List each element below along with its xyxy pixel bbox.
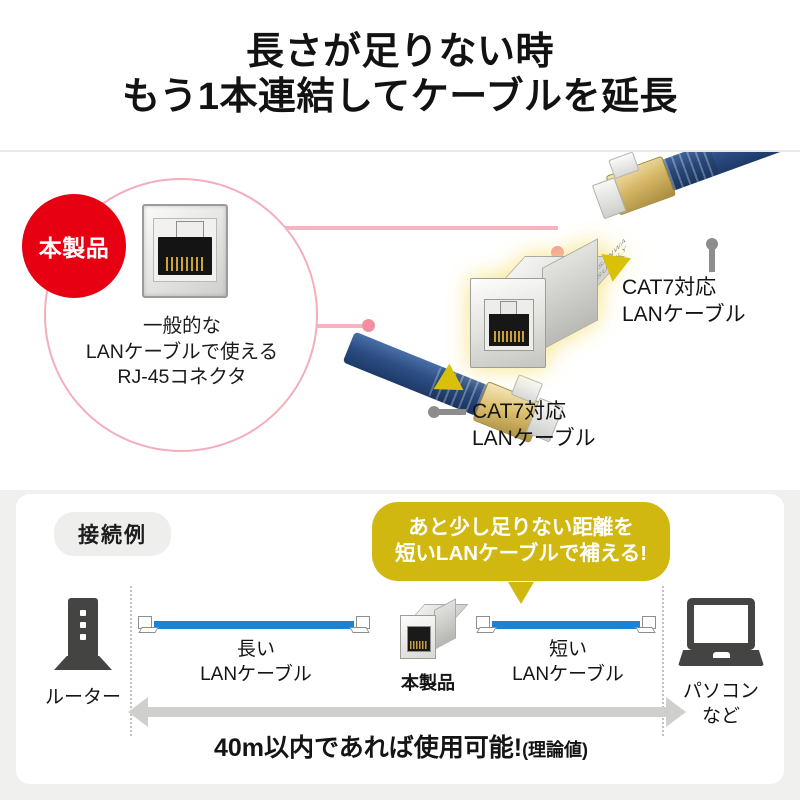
- router-slot-3: [80, 634, 86, 640]
- dimension-main-text: 40m以内であれば使用可能!: [214, 734, 522, 762]
- product-badge: 本製品: [22, 194, 126, 298]
- bubble-line2: 短いLANケーブルで補える!: [382, 541, 660, 567]
- short-cable-label: 短い LANケーブル: [478, 638, 658, 687]
- router-body: [68, 598, 98, 660]
- callout-stem-bottom: [438, 409, 466, 415]
- lan-coupler-photo: SANWA SUPPLY: [470, 256, 598, 368]
- long-cable-label: 長い LANケーブル: [156, 638, 356, 687]
- product-badge-label: 本製品: [39, 229, 110, 263]
- speech-bubble: あと少し足りない距離を 短いLANケーブルで補える!: [372, 502, 670, 581]
- long-cable-line1: 長い: [156, 638, 356, 663]
- speech-bubble-tail: [508, 582, 534, 604]
- short-lan-cable-graphic: [476, 616, 656, 634]
- laptop-screen: [687, 598, 755, 650]
- callout-text-top: CAT7対応 LANケーブル: [622, 274, 746, 329]
- callout-stem-top: [709, 246, 715, 272]
- long-cable-plug-right-icon: [350, 616, 370, 634]
- page-title-line1: 長さが足りない時: [246, 30, 554, 75]
- pink-leader-line-upper: [264, 226, 558, 230]
- rj45-caption-line2: LANケーブルで使える: [46, 340, 318, 366]
- coupler-port-hole: [489, 314, 529, 346]
- router-base: [54, 656, 112, 670]
- rj45-caption: 一般的な LANケーブルで使える RJ-45コネクタ: [46, 314, 318, 391]
- bubble-line1: あと少し足りない距離を: [382, 515, 660, 541]
- coupler-icon: [400, 604, 456, 660]
- dimension-arrow-right-icon: [666, 697, 686, 727]
- coupler-front-face: [470, 278, 546, 368]
- short-cable-plug-right-icon: [636, 616, 656, 634]
- short-cable-wire: [492, 621, 640, 629]
- dimension-arrow-line: [146, 707, 666, 717]
- rj45-jack-cavity: [158, 237, 212, 275]
- rj45-jack-pins: [166, 257, 204, 271]
- callout-top-line1: CAT7対応: [622, 274, 746, 301]
- callout-top-line2: LANケーブル: [622, 301, 746, 328]
- callout-bottom-line2: LANケーブル: [472, 425, 596, 452]
- long-cable-wire: [154, 621, 354, 629]
- infographic-page: 長さが足りない時 もう1本連結してケーブルを延長 本製品 一般的な LANケーブ…: [0, 0, 800, 800]
- router-icon: [54, 598, 112, 678]
- mini-coupler-pins: [410, 641, 428, 649]
- connection-example-card: 接続例 あと少し足りない距離を 短いLANケーブルで補える! ルーター: [16, 494, 784, 784]
- product-label-bottom: 本製品: [386, 672, 470, 695]
- rj45-jack-photo: [142, 204, 228, 298]
- router-slot-2: [80, 622, 86, 628]
- long-cable-plug-left-icon: [138, 616, 158, 634]
- laptop-icon: [678, 598, 764, 674]
- coupler-side-face: SANWA SUPPLY: [542, 238, 598, 350]
- short-cable-plug-left-icon: [476, 616, 496, 634]
- long-lan-cable-graphic: [138, 616, 370, 634]
- dimension-text: 40m以内であれば使用可能!(理論値): [136, 728, 666, 764]
- coupler-port-pins: [494, 331, 524, 342]
- mini-coupler-front: [400, 615, 436, 659]
- callout-bottom-line1: CAT7対応: [472, 398, 596, 425]
- laptop-notch: [713, 652, 730, 658]
- callout-text-bottom: CAT7対応 LANケーブル: [472, 398, 596, 453]
- product-illustration-panel: 本製品 一般的な LANケーブルで使える RJ-45コネクタ SANWA SUP…: [0, 152, 800, 490]
- header-banner: 長さが足りない時 もう1本連結してケーブルを延長: [0, 0, 800, 150]
- page-title-line2: もう1本連結してケーブルを延長: [122, 75, 678, 120]
- rj45-caption-line1: 一般的な: [46, 314, 318, 340]
- short-cable-line2: LANケーブル: [478, 663, 658, 688]
- router-label: ルーター: [32, 686, 134, 711]
- router-slot-1: [80, 610, 86, 616]
- mini-coupler-port: [407, 626, 431, 652]
- cat7-cable-top-right: [583, 152, 800, 255]
- rj45-caption-line3: RJ-45コネクタ: [46, 365, 318, 391]
- dimension-note-text: (理論値): [522, 740, 588, 760]
- plug-tab: [476, 627, 496, 633]
- coupler-port: [484, 299, 534, 351]
- short-cable-line1: 短い: [478, 638, 658, 663]
- plug-tab: [138, 627, 158, 633]
- plug-tab: [349, 627, 369, 633]
- plug-tab: [635, 627, 655, 633]
- long-cable-line2: LANケーブル: [156, 663, 356, 688]
- section-pill: 接続例: [54, 512, 171, 556]
- dimension-arrow-left-icon: [128, 697, 148, 727]
- rj45-jack-inner: [153, 218, 217, 282]
